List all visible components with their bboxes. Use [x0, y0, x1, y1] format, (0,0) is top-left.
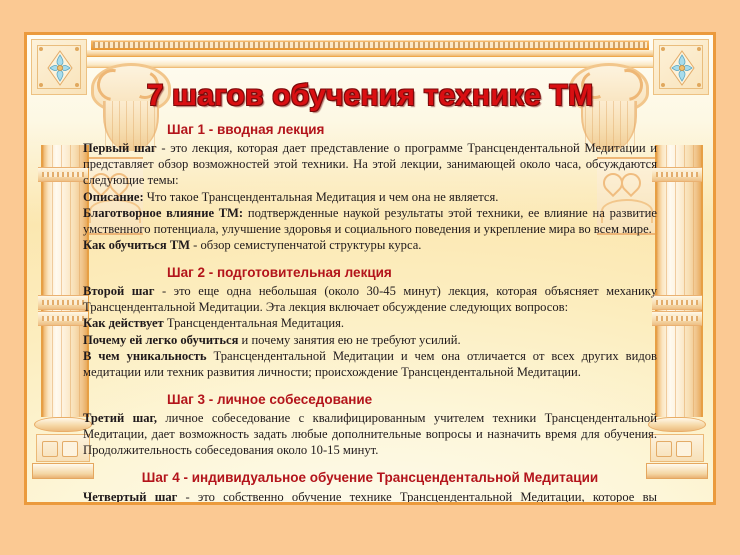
step-4-paragraph-1: Четвертый шаг - это собственно обучение …: [83, 489, 657, 505]
paragraph-lead: Описание:: [83, 190, 144, 204]
column-plinth: [36, 434, 90, 462]
column-band: [38, 295, 88, 310]
column-shaft: [655, 145, 703, 417]
column-band: [38, 167, 88, 182]
step-section-3: Шаг 3 - личное собеседование Третий шаг,…: [83, 391, 657, 459]
steps-content: Шаг 1 - вводная лекция Первый шаг - это …: [83, 121, 657, 496]
paragraph-lead: Четвертый шаг: [83, 490, 177, 504]
paragraph-lead: В чем уникальность: [83, 349, 207, 363]
fluted-column-right: [655, 145, 699, 481]
step-heading-4: Шаг 4 - индивидуальное обучение Трансцен…: [83, 469, 657, 487]
paragraph-lead: Как действует: [83, 316, 164, 330]
fluted-column-left: [41, 145, 85, 481]
step-1-paragraph-1: Первый шаг - это лекция, которая дает пр…: [83, 140, 657, 188]
step-2-paragraph-2: Как действует Трансцендентальная Медитац…: [83, 315, 657, 331]
step-1-paragraph-4: Как обучиться ТМ - обзор семиступенчатой…: [83, 237, 657, 253]
paragraph-rest: - это лекция, которая дает представление…: [83, 141, 657, 187]
dentil-molding-ornament: [91, 40, 649, 57]
paragraph-lead: Как обучиться ТМ: [83, 238, 190, 252]
column-plinth: [650, 434, 704, 462]
paragraph-rest: личное собеседование с квалифицированным…: [83, 411, 657, 457]
paragraph-rest: и почему занятия ею не требуют усилий.: [238, 333, 460, 347]
section-spacer: [83, 255, 657, 264]
poster-title: 7 шагов обучения технике ТМ: [27, 79, 713, 113]
poster-page: 7 шагов обучения технике ТМ Шаг 1 - ввод…: [0, 0, 740, 555]
paragraph-rest: - это еще одна небольшая (около 30-45 ми…: [83, 284, 657, 314]
paragraph-lead: Благотворное влияние ТМ:: [83, 206, 243, 220]
step-3-paragraph-1: Третий шаг, личное собеседование с квали…: [83, 410, 657, 458]
molding-teeth: [93, 42, 647, 48]
step-2-paragraph-3: Почему ей легко обучиться и почему занят…: [83, 332, 657, 348]
step-heading-1: Шаг 1 - вводная лекция: [83, 121, 657, 139]
paragraph-rest: Что такое Трансцендентальная Медитация и…: [144, 190, 499, 204]
column-band: [652, 311, 702, 326]
step-section-2: Шаг 2 - подготовительная лекция Второй ш…: [83, 264, 657, 380]
column-band: [38, 311, 88, 326]
paragraph-lead: Третий шаг,: [83, 411, 157, 425]
column-band: [652, 295, 702, 310]
step-heading-2: Шаг 2 - подготовительная лекция: [83, 264, 657, 282]
step-1-paragraph-3: Благотворное влияние ТМ: подтвержденные …: [83, 205, 657, 237]
column-shaft: [41, 145, 89, 417]
paragraph-rest: - обзор семиступенчатой структуры курса.: [190, 238, 421, 252]
paragraph-lead: Второй шаг: [83, 284, 154, 298]
step-2-paragraph-4: В чем уникальность Трансцендентальной Ме…: [83, 348, 657, 380]
step-2-paragraph-1: Второй шаг - это еще одна небольшая (око…: [83, 283, 657, 315]
decorative-frame: 7 шагов обучения технике ТМ Шаг 1 - ввод…: [24, 32, 716, 505]
column-band: [652, 167, 702, 182]
step-section-1: Шаг 1 - вводная лекция Первый шаг - это …: [83, 121, 657, 253]
paragraph-lead: Первый шаг: [83, 141, 157, 155]
section-spacer: [83, 460, 657, 469]
section-spacer: [83, 382, 657, 391]
step-section-4: Шаг 4 - индивидуальное обучение Трансцен…: [83, 469, 657, 505]
paragraph-rest: Трансцендентальная Медитация.: [164, 316, 344, 330]
paragraph-lead: Почему ей легко обучиться: [83, 333, 238, 347]
step-1-paragraph-2: Описание: Что такое Трансцендентальная М…: [83, 189, 657, 205]
step-heading-3: Шаг 3 - личное собеседование: [83, 391, 657, 409]
